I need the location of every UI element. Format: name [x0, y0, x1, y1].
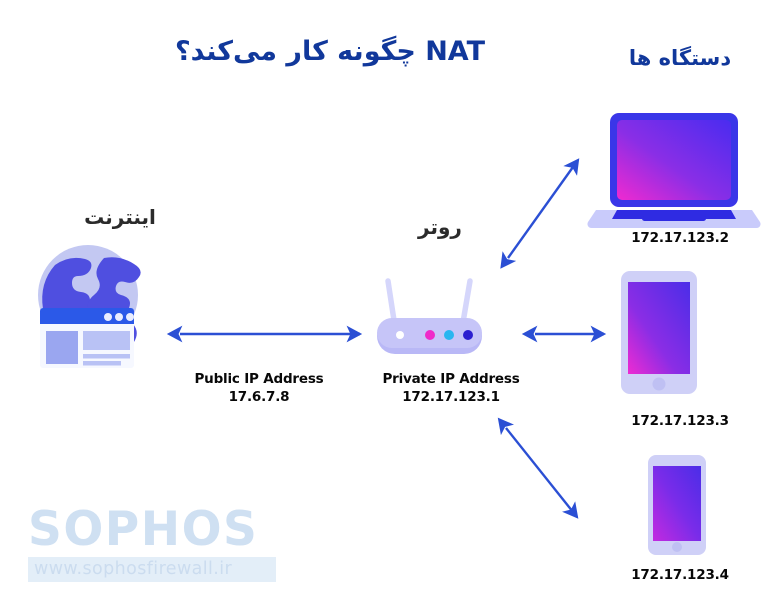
watermark: SOPHOS www.sophosfirewall.ir	[28, 505, 290, 585]
router-icon	[377, 281, 482, 354]
phone-icon	[648, 455, 706, 555]
watermark-brand: SOPHOS	[28, 505, 290, 555]
arrow-router-phone	[506, 428, 577, 517]
public-ip-caption: Public IP Address 17.6.7.8	[178, 370, 340, 406]
arrow-router-laptop	[508, 160, 578, 258]
public-ip-value: 17.6.7.8	[178, 388, 340, 406]
watermark-url: www.sophosfirewall.ir	[28, 557, 276, 582]
globe-browser-icon	[38, 245, 141, 368]
tablet-icon	[621, 271, 697, 394]
phone-ip-value: 172.17.123.4	[600, 567, 760, 583]
diagram-canvas: NAT چگونه کار می‌کند؟ دستگاه ها اینترنت …	[0, 0, 776, 616]
public-ip-label: Public IP Address	[194, 371, 323, 387]
tablet-ip-value: 172.17.123.3	[600, 413, 760, 429]
private-ip-caption: Private IP Address 172.17.123.1	[368, 370, 534, 406]
laptop-ip-value: 172.17.123.2	[600, 230, 760, 246]
private-ip-label: Private IP Address	[382, 371, 519, 387]
laptop-icon	[587, 113, 760, 228]
private-ip-value: 172.17.123.1	[368, 388, 534, 406]
